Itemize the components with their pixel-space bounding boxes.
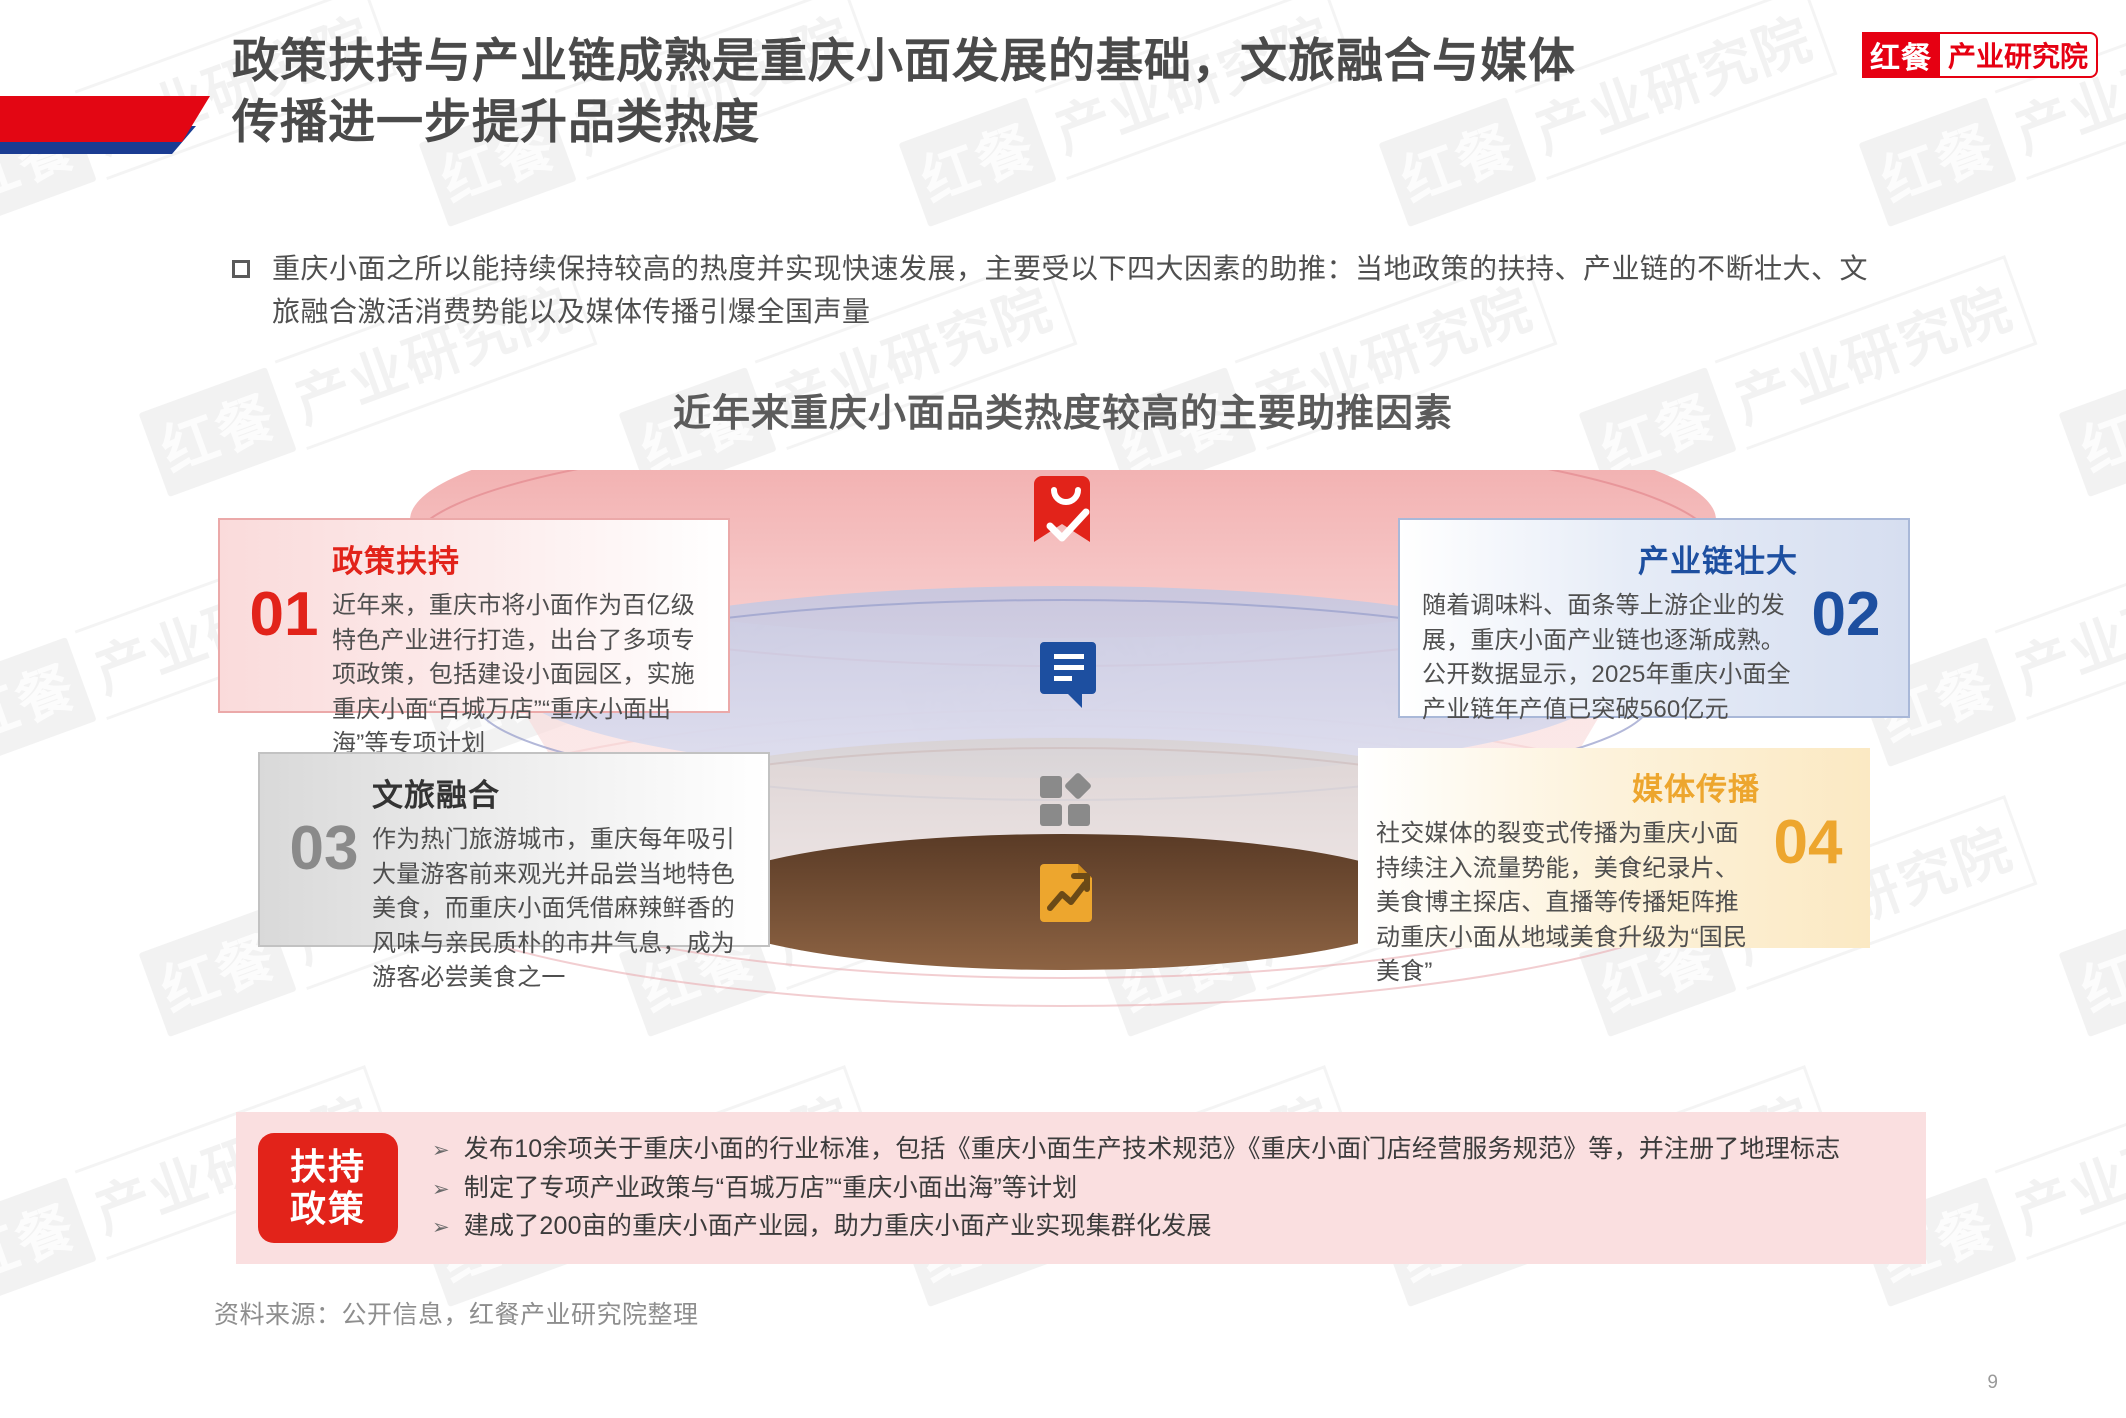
arrow-bullet-icon: ➢ <box>432 1214 450 1241</box>
section-title: 近年来重庆小面品类热度较高的主要助推因素 <box>0 382 2126 437</box>
page-title-line2: 传播进一步提升品类热度 <box>232 95 760 148</box>
factor-card-03-title: 文旅融合 <box>372 770 748 815</box>
factor-card-04[interactable]: 04 媒体传播 社交媒体的裂变式传播为重庆小面持续注入流量势能，美食纪录片、美食… <box>1358 748 1870 948</box>
factor-card-02-description: 随着调味料、面条等上游企业的发展，重庆小面产业链也逐渐成熟。公开数据显示，202… <box>1422 589 1798 727</box>
square-bullet-icon <box>232 260 250 278</box>
policy-list-item-text: 建成了200亩的重庆小面产业园，助力重庆小面产业实现集群化发展 <box>464 1210 1212 1243</box>
watermark-badge: 红餐 <box>0 1177 97 1307</box>
factor-card-03-number: 03 <box>276 770 372 880</box>
page-title-line1: 政策扶持与产业链成熟是重庆小面发展的基础，文旅融合与媒体 <box>232 34 1576 87</box>
corner-ribbon-decoration <box>0 84 220 159</box>
policy-list-item: ➢ 建成了200亩的重庆小面产业园，助力重庆小面产业实现集群化发展 <box>432 1210 1840 1243</box>
policy-support-list: ➢ 发布10余项关于重庆小面的行业标准，包括《重庆小面生产技术规范》《重庆小面门… <box>432 1133 1840 1243</box>
factor-card-02-title: 产业链壮大 <box>1422 536 1798 581</box>
factor-card-04-number: 04 <box>1760 764 1856 874</box>
intro-text: 重庆小面之所以能持续保持较高的热度并实现快速发展，主要受以下四大因素的助推：当地… <box>272 248 1882 333</box>
watermark-label: 产业研究院 <box>1995 525 2126 720</box>
watermark-badge: 红餐 <box>2059 907 2126 1037</box>
trend-chart-document-icon <box>1040 864 1092 922</box>
brand-logo: 红餐 产业研究院 <box>1862 32 2098 78</box>
factor-card-01[interactable]: 01 政策扶持 近年来，重庆市将小面作为百亿级特色产业进行打造，出台了多项专项政… <box>218 518 730 713</box>
policy-list-item-text: 制定了专项产业政策与“百城万店”“重庆小面出海”等计划 <box>464 1172 1078 1205</box>
factor-card-03-description: 作为热门旅游城市，重庆每年吸引大量游客前来观光并品尝当地特色美食，而重庆小面凭借… <box>372 823 748 996</box>
factor-card-03[interactable]: 03 文旅融合 作为热门旅游城市，重庆每年吸引大量游客前来观光并品尝当地特色美食… <box>258 752 770 947</box>
watermark-text: 红餐产业研究院 <box>2057 795 2126 1040</box>
factor-card-02-number: 02 <box>1798 536 1894 646</box>
policy-list-item-text: 发布10余项关于重庆小面的行业标准，包括《重庆小面生产技术规范》《重庆小面门店经… <box>464 1133 1841 1166</box>
factor-card-02[interactable]: 02 产业链壮大 随着调味料、面条等上游企业的发展，重庆小面产业链也逐渐成熟。公… <box>1398 518 1910 718</box>
watermark-label: 产业研究院 <box>1995 1065 2126 1260</box>
arrow-bullet-icon: ➢ <box>432 1176 450 1203</box>
arrow-bullet-icon: ➢ <box>432 1137 450 1164</box>
intro-paragraph: 重庆小面之所以能持续保持较高的热度并实现快速发展，主要受以下四大因素的助推：当地… <box>232 248 1882 333</box>
watermark-label: 产业研究院 <box>1995 0 2126 180</box>
factor-card-04-title: 媒体传播 <box>1376 764 1760 809</box>
watermark-badge: 红餐 <box>0 637 97 767</box>
factor-card-04-description: 社交媒体的裂变式传播为重庆小面持续注入流量势能，美食纪录片、美食博主探店、直播等… <box>1376 817 1760 990</box>
factor-card-01-number: 01 <box>236 536 332 646</box>
policy-support-panel: 扶持 政策 ➢ 发布10余项关于重庆小面的行业标准，包括《重庆小面生产技术规范》… <box>236 1112 1926 1264</box>
page-number: 9 <box>1987 1372 1998 1394</box>
policy-support-badge: 扶持 政策 <box>258 1133 398 1243</box>
policy-badge-line1: 扶持 <box>290 1146 366 1188</box>
brand-logo-name: 产业研究院 <box>1940 32 2098 78</box>
watermark-badge: 红餐 <box>1859 97 2017 227</box>
source-note: 资料来源：公开信息，红餐产业研究院整理 <box>214 1295 699 1331</box>
policy-list-item: ➢ 发布10余项关于重庆小面的行业标准，包括《重庆小面生产技术规范》《重庆小面门… <box>432 1133 1840 1166</box>
policy-badge-line2: 政策 <box>290 1188 366 1230</box>
factor-card-01-description: 近年来，重庆市将小面作为百亿级特色产业进行打造，出台了多项专项政策，包括建设小面… <box>332 589 708 762</box>
factor-card-01-title: 政策扶持 <box>332 536 708 581</box>
page-header: 政策扶持与产业链成熟是重庆小面发展的基础，文旅融合与媒体 传播进一步提升品类热度 <box>232 30 1792 152</box>
policy-list-item: ➢ 制定了专项产业政策与“百城万店”“重庆小面出海”等计划 <box>432 1172 1840 1205</box>
brand-logo-mark: 红餐 <box>1862 32 1940 78</box>
page-title: 政策扶持与产业链成熟是重庆小面发展的基础，文旅融合与媒体 传播进一步提升品类热度 <box>232 30 1792 152</box>
slide-root: 红餐产业研究院红餐产业研究院红餐产业研究院红餐产业研究院红餐产业研究院红餐产业研… <box>0 0 2126 1418</box>
watermark-text: 红餐产业研究院 <box>2057 255 2126 500</box>
